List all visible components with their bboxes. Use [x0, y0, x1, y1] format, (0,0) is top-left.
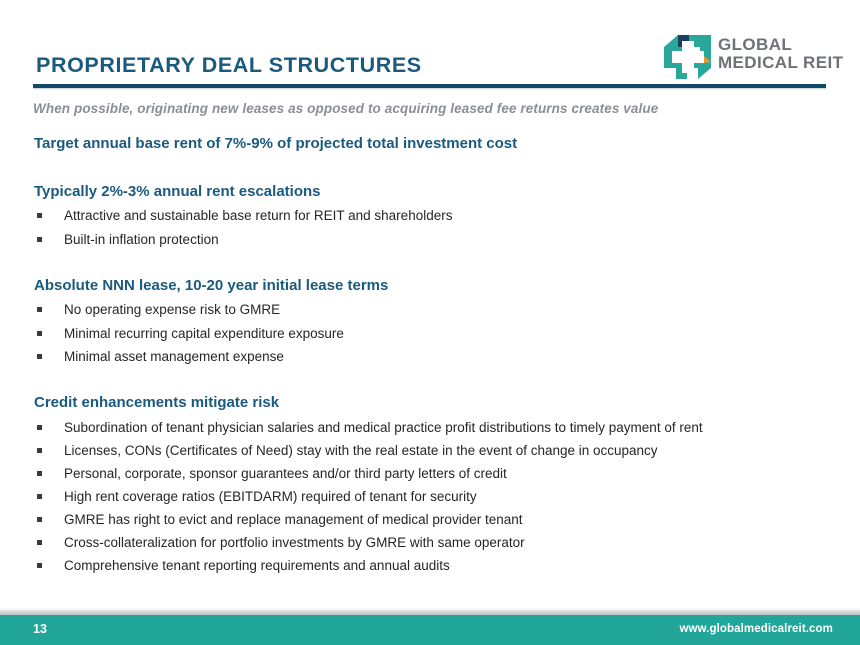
square-bullet-icon: [37, 331, 42, 336]
list-item-label: Cross-collateralization for portfolio in…: [64, 533, 525, 552]
slide-body: Target annual base rent of 7%-9% of proj…: [0, 0, 860, 600]
section-heading-rent-escalations: Typically 2%-3% annual rent escalations: [34, 183, 321, 200]
section-heading-target-rent: Target annual base rent of 7%-9% of proj…: [34, 135, 517, 152]
list-item-label: Personal, corporate, sponsor guarantees …: [64, 464, 507, 483]
list-item-label: Minimal asset management expense: [64, 347, 284, 366]
square-bullet-icon: [37, 471, 42, 476]
square-bullet-icon: [37, 425, 42, 430]
list-item-label: Built-in inflation protection: [64, 230, 219, 249]
square-bullet-icon: [37, 540, 42, 545]
list-item-label: Minimal recurring capital expenditure ex…: [64, 324, 344, 343]
footer-website-url[interactable]: www.globalmedicalreit.com: [679, 623, 833, 635]
section-heading-nnn-lease: Absolute NNN lease, 10-20 year initial l…: [34, 277, 388, 294]
list-item-label: High rent coverage ratios (EBITDARM) req…: [64, 487, 477, 506]
slide: PROPRIETARY DEAL STRUCTURES: [0, 0, 860, 645]
square-bullet-icon: [37, 354, 42, 359]
list-item-label: GMRE has right to evict and replace mana…: [64, 510, 523, 529]
list-item-label: Comprehensive tenant reporting requireme…: [64, 556, 450, 575]
square-bullet-icon: [37, 448, 42, 453]
square-bullet-icon: [37, 494, 42, 499]
list-item-label: Licenses, CONs (Certificates of Need) st…: [64, 441, 658, 460]
page-number: 13: [33, 622, 47, 636]
section-heading-credit-enhancements: Credit enhancements mitigate risk: [34, 394, 279, 411]
footer-shadow-band: [0, 608, 860, 615]
list-item-label: Attractive and sustainable base return f…: [64, 206, 452, 225]
square-bullet-icon: [37, 307, 42, 312]
square-bullet-icon: [37, 213, 42, 218]
square-bullet-icon: [37, 517, 42, 522]
list-item-label: Subordination of tenant physician salari…: [64, 418, 703, 437]
list-item-label: No operating expense risk to GMRE: [64, 300, 280, 319]
square-bullet-icon: [37, 563, 42, 568]
slide-footer: 13 www.globalmedicalreit.com: [0, 615, 860, 645]
square-bullet-icon: [37, 237, 42, 242]
